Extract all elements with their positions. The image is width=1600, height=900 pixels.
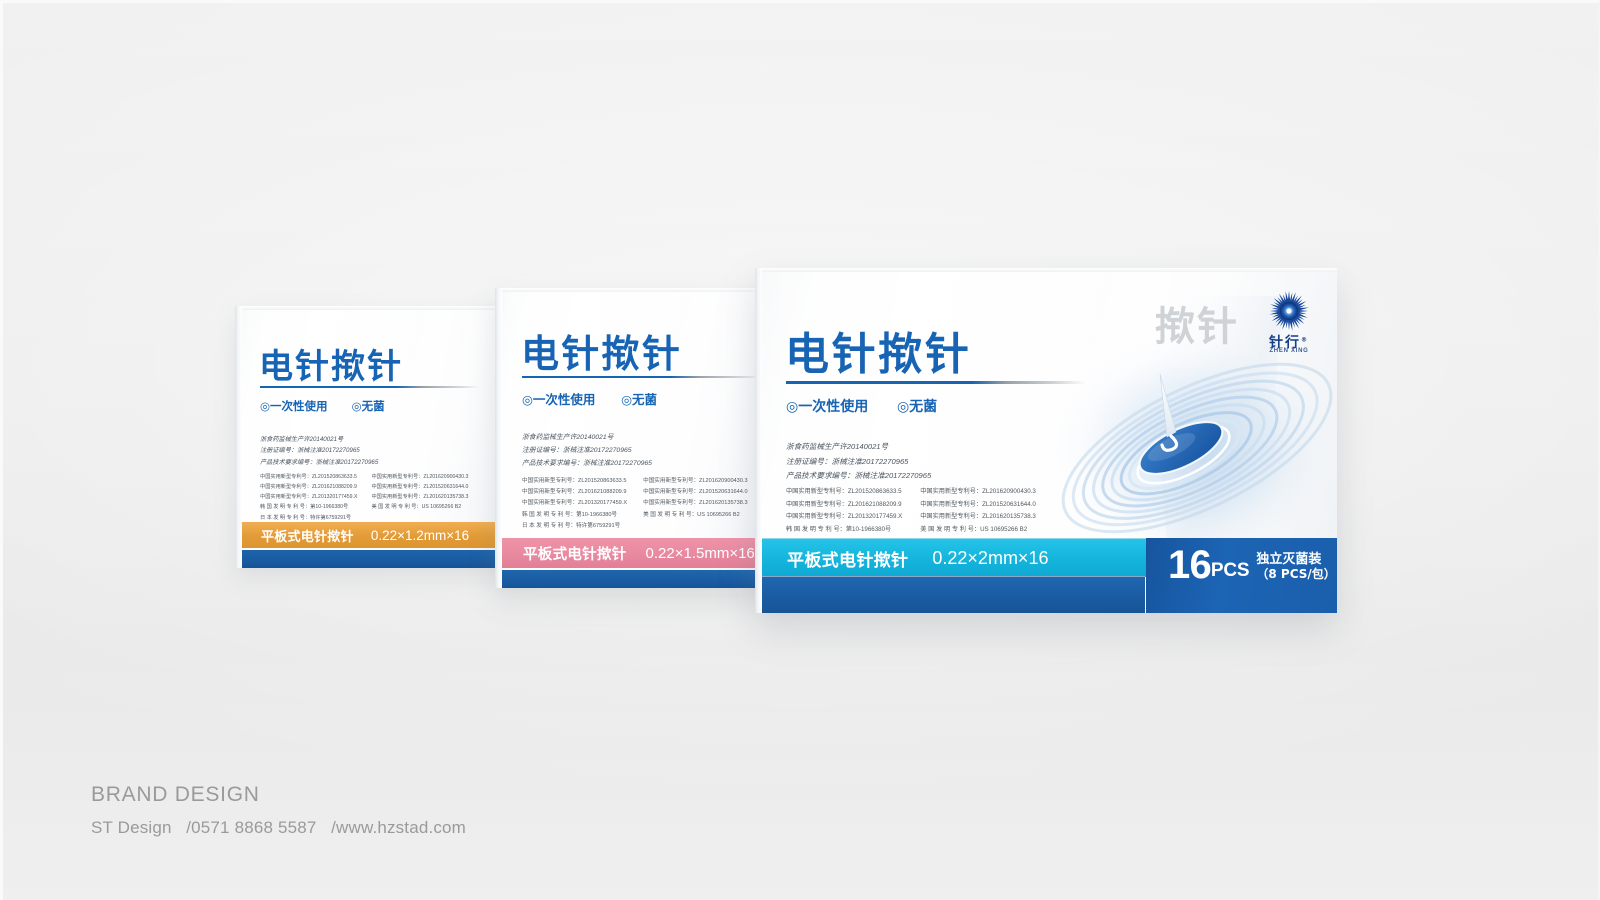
box1-variant-size: 0.22×1.2mm×16 — [371, 528, 469, 543]
box3-title-rule — [786, 381, 1086, 384]
box2-registration-block: 浙食药监械生产许20140021号 注册证编号：浙械注准20172270965 … — [522, 432, 652, 471]
box1-ground-shadow — [3, 3, 287, 15]
pack-count: 16 — [1168, 548, 1211, 582]
patent-line: 中国实用新型专利号：ZL201520631644.0 — [920, 499, 1036, 512]
box1-variant-name: 平板式电针揿针 — [261, 526, 354, 545]
box1-registration-block: 浙食药监械生产许20140021号 注册证编号：浙械注准20172270965 … — [260, 434, 378, 468]
pack-count-unit: PCS — [1211, 561, 1250, 582]
credits-block: BRAND DESIGN ST Design /0571 8868 5587 /… — [91, 779, 466, 841]
box3-blue-base — [762, 576, 1145, 613]
patent-line: 美 国 发 明 专 利 号：US 10695266 B2 — [643, 510, 747, 521]
box1-claim-sterile: ◎无菌 — [352, 399, 385, 413]
box2-patent-block: 中国实用新型专利号：ZL201520863633.5 中国实用新型专利号：ZL2… — [522, 476, 748, 532]
box3-variant-name: 平板式电针揿针 — [787, 546, 908, 571]
box3-product-title: 电针揿针 — [785, 318, 972, 382]
patent-line: 美 国 发 明 专 利 号：US 10695266 B2 — [371, 502, 468, 512]
patent-line: 中国实用新型专利号：ZL201520863633.5 — [522, 476, 627, 487]
box2-claim-single-use: ◎一次性使用 — [522, 392, 595, 407]
box1-patent-block: 中国实用新型专利号：ZL201520863633.5 中国实用新型专利号：ZL2… — [260, 472, 468, 523]
box1-blue-base — [242, 550, 527, 568]
patent-line: 中国实用新型专利号：ZL201320177459.X — [522, 498, 627, 509]
patent-line: 中国实用新型专利号：ZL201520863633.5 — [260, 472, 357, 482]
box2-blue-base — [502, 570, 787, 588]
sterile-label: 独立灭菌装 — [1256, 552, 1335, 567]
box1-spec-bar: 平板式电针揿针 0.22×1.2mm×16 — [242, 522, 527, 548]
patent-column-left: 中国实用新型专利号：ZL201520863633.5 中国实用新型专利号：ZL2… — [260, 472, 357, 523]
patent-line: 日 本 发 明 专 利 号：特许第6759291号 — [522, 521, 627, 532]
patent-line: 中国实用新型专利号：ZL201620135738.3 — [920, 511, 1036, 524]
patent-line: 韩 国 发 明 专 利 号：第10-1966380号 — [260, 502, 357, 512]
patent-line: 中国实用新型专利号：ZL201621088209.9 — [522, 487, 627, 498]
box-left-edge — [495, 288, 502, 588]
patent-column-left: 中国实用新型专利号：ZL201520863633.5 中国实用新型专利号：ZL2… — [522, 476, 627, 532]
box-left-edge — [755, 268, 762, 613]
patent-line: 中国实用新型专利号：ZL201320177459.X — [260, 492, 357, 502]
brand-name-en: ZHEN XING — [1255, 348, 1323, 354]
patent-line: 中国实用新型专利号：ZL201520863633.5 — [786, 486, 902, 499]
patent-line: 中国实用新型专利号：ZL201520631644.0 — [643, 487, 747, 498]
box1-claims: ◎一次性使用 ◎无菌 — [260, 398, 385, 414]
patent-line: 中国实用新型专利号：ZL201620900430.3 — [643, 476, 747, 487]
reg-line: 产品技术要求编号：浙械注准20172270965 — [522, 458, 652, 471]
box3-ground-shadow — [3, 29, 581, 49]
patent-column-right: 中国实用新型专利号：ZL201620900430.3 中国实用新型专利号：ZL2… — [371, 472, 468, 523]
box3-side-panel: 16 PCS 独立灭菌装 （8 PCS/包） — [1146, 538, 1337, 613]
box1-claim-single-use: ◎一次性使用 — [260, 399, 328, 413]
credit-website: /www.hzstad.com — [331, 818, 466, 837]
product-box-middle: 电针揿针 ◎一次性使用 ◎无菌 浙食药监械生产许20140021号 注册证编号：… — [495, 288, 787, 588]
patent-line: 中国实用新型专利号：ZL201520631644.0 — [371, 482, 468, 492]
product-box-front-right: 电针揿针 ◎一次性使用 ◎无菌 浙食药监械生产许20140021号 注册证编号：… — [755, 268, 1337, 613]
credit-studio: ST Design — [91, 818, 172, 837]
reg-line: 产品技术要求编号：浙械注准20172270965 — [786, 469, 931, 484]
reg-line: 浙食药监械生产许20140021号 — [522, 432, 652, 445]
patent-line: 中国实用新型专利号：ZL201320177459.X — [786, 511, 902, 524]
box2-title-rule — [522, 376, 762, 378]
product-box-back-left: 电针揿针 ◎一次性使用 ◎无菌 浙食药监械生产许20140021号 注册证编号：… — [235, 306, 527, 568]
box-top-edge — [495, 288, 787, 292]
box-top-edge — [235, 306, 527, 310]
patent-line: 韩 国 发 明 专 利 号：第10-1966380号 — [522, 510, 627, 521]
brand-logo: 针行® ZHEN XING — [1255, 290, 1323, 356]
box3-claims: ◎一次性使用 ◎无菌 — [786, 396, 937, 416]
box3-spec-bar: 平板式电针揿针 0.22×2mm×16 — [762, 538, 1170, 577]
reg-line: 产品技术要求编号：浙械注准20172270965 — [260, 457, 378, 468]
pack-count-group: 16 PCS 独立灭菌装 （8 PCS/包） — [1168, 548, 1336, 582]
patent-line: 中国实用新型专利号：ZL201620900430.3 — [371, 472, 468, 482]
box2-spec-bar: 平板式电针揿针 0.22×1.5mm×16 — [502, 538, 787, 568]
reg-line: 注册证编号：浙械注准20172270965 — [260, 445, 378, 456]
box2-product-title: 电针揿针 — [521, 323, 682, 378]
mockup-canvas: 电针揿针 ◎一次性使用 ◎无菌 浙食药监械生产许20140021号 注册证编号：… — [0, 0, 1600, 900]
needle-icon — [1160, 374, 1177, 450]
reg-line: 注册证编号：浙械注准20172270965 — [522, 445, 652, 458]
box3-variant-size: 0.22×2mm×16 — [932, 548, 1048, 569]
starburst-icon — [1255, 290, 1323, 334]
patent-line: 中国实用新型专利号：ZL201620135738.3 — [643, 498, 747, 509]
patent-line: 韩 国 发 明 专 利 号：第10-1966380号 — [786, 524, 902, 537]
box3-claim-sterile: ◎无菌 — [897, 399, 937, 415]
box2-claims: ◎一次性使用 ◎无菌 — [522, 389, 657, 408]
box2-ground-shadow — [3, 15, 287, 29]
pack-subcount-label: （8 PCS/包） — [1256, 567, 1335, 581]
box1-product-title: 电针揿针 — [259, 339, 403, 388]
box2-variant-size: 0.22×1.5mm×16 — [646, 545, 755, 562]
reg-line: 浙食药监械生产许20140021号 — [260, 434, 378, 445]
box2-variant-name: 平板式电针揿针 — [523, 543, 627, 564]
box3-claim-single-use: ◎一次性使用 — [786, 399, 868, 415]
patent-line: 美 国 发 明 专 利 号：US 10695266 B2 — [920, 524, 1036, 537]
box2-claim-sterile: ◎无菌 — [621, 392, 657, 407]
patent-line: 中国实用新型专利号：ZL201621088209.9 — [260, 482, 357, 492]
box-left-edge — [235, 306, 242, 568]
registered-mark: ® — [1301, 336, 1309, 343]
reg-line: 浙食药监械生产许20140021号 — [786, 440, 931, 455]
credit-brand-design: BRAND DESIGN — [91, 779, 466, 811]
reg-line: 注册证编号：浙械注准20172270965 — [786, 455, 931, 470]
box-top-edge — [755, 268, 1337, 272]
patent-line: 中国实用新型专利号：ZL201620135738.3 — [371, 492, 468, 502]
credit-studio-line: ST Design /0571 8868 5587 /www.hzstad.co… — [91, 815, 466, 841]
patent-line: 中国实用新型专利号：ZL201621088209.9 — [786, 499, 902, 512]
patent-line: 中国实用新型专利号：ZL201620900430.3 — [920, 486, 1036, 499]
box1-title-rule — [260, 386, 480, 388]
box3-registration-block: 浙食药监械生产许20140021号 注册证编号：浙械注准20172270965 … — [786, 440, 931, 484]
credit-phone: /0571 8868 5587 — [186, 818, 316, 837]
patent-column-right: 中国实用新型专利号：ZL201620900430.3 中国实用新型专利号：ZL2… — [643, 476, 747, 532]
box3-watermark-text: 揿针 — [1155, 294, 1239, 352]
